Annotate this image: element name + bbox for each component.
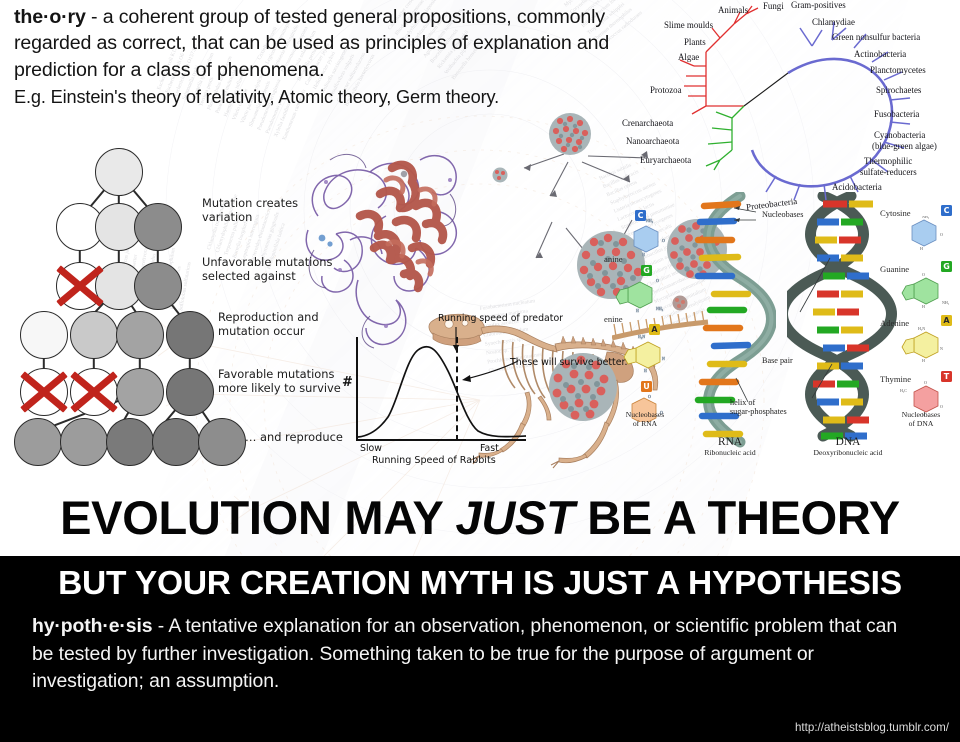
hypothesis-dash: - [152, 615, 168, 637]
phylo-label-green-nonsulfur: Green nonsulfur bacteria [832, 32, 920, 42]
chart-xtick-fast: Fast [480, 443, 499, 454]
ns-node [20, 368, 68, 416]
chart-x-axis-label: Running Speed of Rabbits [372, 455, 496, 466]
chart-y-label: # [342, 375, 353, 390]
dna-base-name-adenine: Adenine [880, 318, 909, 328]
svg-text:N: N [662, 356, 665, 361]
ns-node [134, 203, 182, 251]
svg-text:NH₂: NH₂ [922, 216, 930, 219]
rna-caption-line1: Nucleobases [614, 410, 676, 419]
phylo-label-cyanobacteria: Cyanobacteria [874, 130, 925, 140]
rna-title: RNA [694, 436, 766, 448]
hypothesis-term: hy·poth·e·sis [32, 615, 152, 637]
dna-caption-line1: Nucleobases [884, 410, 958, 419]
phylo-label-sulfate-reducers: sulfate-reducers [860, 167, 917, 177]
svg-text:H: H [920, 246, 923, 251]
dna-rna-diagram: C G A U anine enine [612, 196, 960, 458]
ns-node [166, 368, 214, 416]
svg-text:N: N [940, 346, 943, 351]
ns-step-label-4-line1: Favorable mutations [218, 367, 341, 381]
ns-step-label-3-line2: mutation occur [218, 324, 319, 338]
rna-subtitle: Ribonucleic acid [694, 448, 766, 457]
meme-image: Escherichia coli K12Escherichia coli O6 … [0, 0, 960, 742]
dna-title: DNA [800, 436, 896, 448]
dna-annotation-leaders [708, 202, 878, 422]
theory-dash: - [86, 6, 103, 28]
ns-step-label-1-line2: variation [202, 210, 298, 224]
svg-text:NH₂: NH₂ [646, 218, 654, 223]
ns-step-label-4: Favorable mutations more likely to survi… [218, 367, 341, 395]
rna-base-name-guanine: anine [604, 254, 623, 264]
phylo-label-crenarchaeota: Crenarchaeota [622, 118, 673, 128]
svg-text:H: H [922, 358, 925, 363]
svg-text:H: H [644, 368, 647, 373]
svg-text:H: H [642, 252, 645, 257]
source-url-credit: http://atheistsblog.tumblr.com/ [795, 721, 949, 734]
ns-node [152, 418, 200, 466]
hypothesis-definition-text: hy·poth·e·sis - A tentative explanation … [32, 613, 922, 696]
rna-badge-u: U [641, 381, 652, 392]
svg-text:O: O [940, 232, 943, 237]
headline-creation-myth: BUT YOUR CREATION MYTH IS JUST A HYPOTHE… [0, 562, 960, 606]
dna-badge-g: G [941, 261, 952, 272]
theory-definition-text: the·o·ry - a coherent group of tested ge… [14, 4, 686, 111]
phylo-label-plants: Plants [684, 37, 706, 47]
svg-text:O: O [940, 404, 943, 409]
phylo-label-fungi: Fungi [763, 1, 784, 11]
rna-badge-c: C [635, 210, 646, 221]
ns-node [70, 311, 118, 359]
headline-evolution-theory: EVOLUTION MAY JUST BE A THEORY [0, 482, 960, 554]
svg-text:NH₂: NH₂ [942, 300, 950, 305]
dna-badge-a: A [941, 315, 952, 326]
chart-annotation-survive: These will survive better. [510, 357, 627, 368]
svg-text:Mycobacterium tuberculosis: Mycobacterium tuberculosis [557, 0, 608, 2]
phylo-label-actinobacteria: Actinobacteria [854, 49, 906, 59]
ns-step-label-5: … and reproduce [245, 430, 343, 444]
svg-text:H₃C: H₃C [900, 388, 907, 393]
headline-part-pre: EVOLUTION MAY [60, 491, 455, 544]
ns-step-label-3-line1: Reproduction and [218, 310, 319, 324]
ns-node [134, 262, 182, 310]
phylo-label-gram-positives: Gram-positives [791, 0, 846, 10]
ns-node [166, 311, 214, 359]
theory-term: the·o·ry [14, 6, 86, 28]
chart-xtick-slow: Slow [360, 443, 382, 454]
ns-step-label-3: Reproduction and mutation occur [218, 310, 319, 338]
dna-badge-t: T [941, 371, 952, 382]
svg-text:H₂N: H₂N [918, 326, 925, 331]
dna-base-name-guanine: Guanine [880, 264, 909, 274]
phylo-label-thermophilic: Thermophilic [864, 156, 912, 166]
svg-text:O: O [648, 394, 651, 399]
ns-step-label-2: Unfavorable mutations selected against [202, 255, 332, 283]
phylo-label-cyanobacteria-note: (blue-green algae) [872, 141, 937, 151]
headline-part-post: BE A THEORY [574, 491, 899, 544]
ns-node [198, 418, 246, 466]
phylo-label-chlamydiae: Chlamydiae [812, 17, 855, 27]
ns-step-label-4-line2: more likely to survive [218, 381, 341, 395]
theory-definition-body: a coherent group of tested general propo… [14, 6, 609, 81]
ns-node [20, 311, 68, 359]
svg-text:O: O [656, 278, 659, 283]
rna-base-name-adenine: enine [604, 314, 623, 324]
dna-caption-line2: of DNA [884, 419, 958, 428]
science-collage: Escherichia coli K12Escherichia coli O6 … [0, 0, 960, 556]
phylo-label-acidobacteria: Acidobacteria [832, 182, 882, 192]
phylo-label-fusobacteria: Fusobacteria [874, 109, 919, 119]
virus-particle-1 [548, 112, 592, 156]
black-caption-band: BUT YOUR CREATION MYTH IS JUST A HYPOTHE… [0, 556, 960, 742]
phylo-label-animals: Animals [718, 5, 748, 15]
ns-node [70, 368, 118, 416]
ns-step-label-1: Mutation creates variation [202, 196, 298, 224]
rna-title-block: RNA Ribonucleic acid [694, 436, 766, 457]
svg-text:O: O [924, 380, 927, 385]
ns-step-label-1-line1: Mutation creates [202, 196, 298, 210]
natural-selection-diagram: Mutation creates variation Unfavorable m… [6, 130, 358, 466]
theory-examples: E.g. Einstein's theory of relativity, At… [14, 84, 686, 110]
rabbit-speed-distribution-chart: # Slow Fast Running Speed of Rabbits Run… [332, 333, 550, 463]
svg-text:O: O [662, 238, 665, 243]
ns-node [106, 418, 154, 466]
dna-base-name-thymine: Thymine [880, 374, 911, 384]
ns-node [116, 368, 164, 416]
ns-node [95, 148, 143, 196]
phylo-label-planctomycetes: Planctomycetes [870, 65, 926, 75]
ns-step-label-2-line1: Unfavorable mutations [202, 255, 332, 269]
virus-particle-small-1 [492, 167, 508, 183]
phylo-label-euryarchaeota: Euryarchaeota [640, 155, 691, 165]
rna-nucleobases-caption: Nucleobases of RNA [614, 410, 676, 428]
rna-badge-g: G [641, 265, 652, 276]
phylo-label-spirochaetes: Spirochaetes [876, 85, 921, 95]
dna-subtitle: Deoxyribonucleic acid [800, 448, 896, 457]
dna-nucleobases-caption: Nucleobases of DNA [884, 410, 958, 428]
chart-annotation-predator: Running speed of predator [438, 313, 563, 324]
svg-text:O: O [922, 272, 925, 277]
rna-caption-line2: of RNA [614, 419, 676, 428]
headline-part-just: JUST [455, 491, 574, 544]
dna-title-block: DNA Deoxyribonucleic acid [800, 436, 896, 457]
rna-badge-a: A [649, 324, 660, 335]
ns-step-label-2-line2: selected against [202, 269, 332, 283]
svg-text:H: H [922, 304, 925, 309]
ns-node [14, 418, 62, 466]
ns-node [60, 418, 108, 466]
phylo-label-nanoarchaeota: Nanoarchaeota [626, 136, 679, 146]
ns-node [116, 311, 164, 359]
